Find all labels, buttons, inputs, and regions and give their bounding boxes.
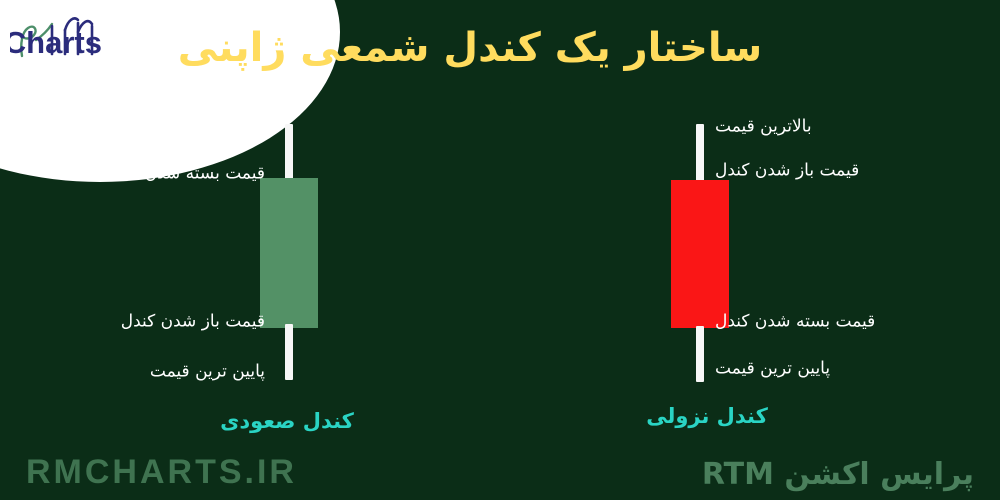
bullish-low-label: پایین ترین قیمت (150, 364, 265, 381)
candlestick-infographic: Charts ساختار یک کندل شمعی ژاپنی بالاتری… (0, 0, 1000, 500)
bullish-lower-wick (285, 324, 293, 380)
bullish-upper-wick (285, 124, 293, 182)
page-title: ساختار یک کندل شمعی ژاپنی (0, 24, 1000, 72)
bullish-candle-group: بالاترین قیمت قیمت بسته شدن کندل قیمت با… (0, 0, 500, 500)
bearish-upper-wick (696, 124, 704, 184)
footer-site-url: RMCHARTS.IR (26, 453, 297, 492)
bearish-close-label: قیمت بسته شدن کندل (715, 314, 875, 331)
bearish-open-label: قیمت باز شدن کندل (715, 163, 859, 180)
bearish-candle-body (671, 180, 729, 328)
bullish-candle-body (260, 178, 318, 328)
bearish-high-label: بالاترین قیمت (715, 119, 812, 136)
bullish-open-label: قیمت باز شدن کندل (121, 314, 265, 331)
bearish-candle-group: بالاترین قیمت قیمت باز شدن کندل قیمت بست… (500, 0, 1000, 500)
bullish-high-label: بالاترین قیمت (168, 119, 265, 136)
bullish-candle-caption: کندل صعودی (220, 409, 354, 433)
candle-stage: بالاترین قیمت قیمت بسته شدن کندل قیمت با… (0, 0, 1000, 500)
bullish-close-label: قیمت بسته شدن کندل (105, 166, 265, 183)
bearish-lower-wick (696, 326, 704, 382)
bearish-candle-caption: کندل نزولی (646, 404, 768, 428)
footer-tagline: پرایس اکشن RTM (702, 457, 974, 492)
bearish-low-label: پایین ترین قیمت (715, 361, 830, 378)
